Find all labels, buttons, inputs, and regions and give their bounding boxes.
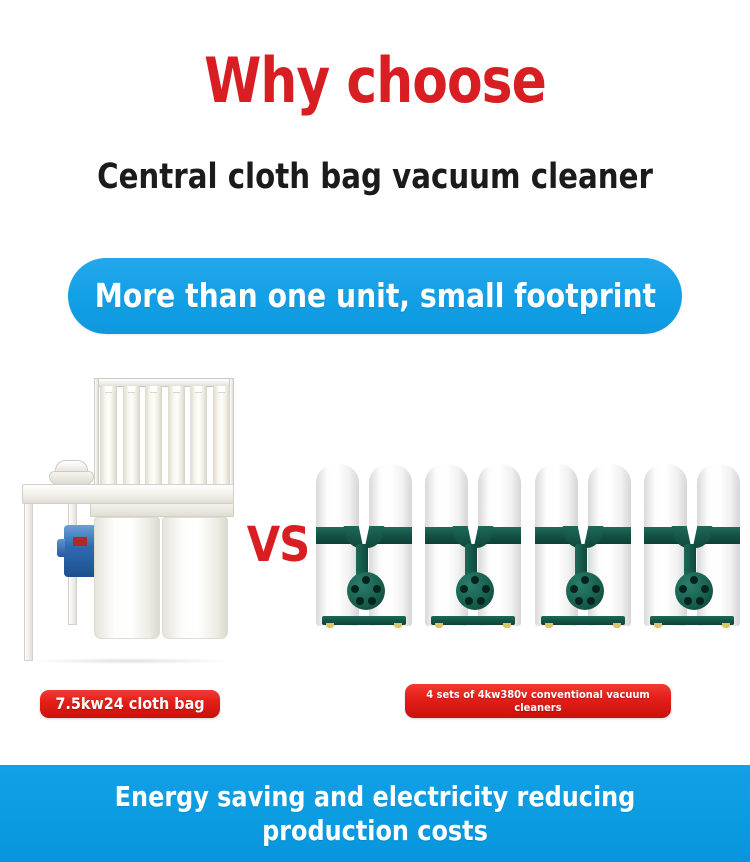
conventional-vacuum-unit xyxy=(425,464,521,664)
cloth-bag xyxy=(190,386,207,490)
platform-apron xyxy=(90,503,234,517)
floor-shadow xyxy=(28,658,232,664)
unit-foot xyxy=(545,623,553,628)
cloth-bag xyxy=(213,386,230,490)
unit-foot xyxy=(722,623,730,628)
highlight-banner-label: More than one unit, small footprint xyxy=(94,277,655,315)
frame-leg-left xyxy=(24,503,33,661)
left-product-caption-label: 7.5kw24 cloth bag xyxy=(55,695,204,713)
cloth-bag xyxy=(168,386,185,490)
unit-foot xyxy=(613,623,621,628)
inlet-hopper xyxy=(49,460,94,486)
page-title: Why choose xyxy=(26,46,724,116)
unit-foot xyxy=(394,623,402,628)
conventional-vacuum-unit xyxy=(535,464,631,664)
versus-label: VS xyxy=(243,520,313,570)
footer-banner-label: Energy saving and electricity reducing p… xyxy=(62,780,689,848)
fan-housing-icon xyxy=(675,572,713,610)
cloth-bag xyxy=(123,386,140,490)
conventional-vacuum-group xyxy=(316,464,740,664)
unit-foot xyxy=(435,623,443,628)
cloth-bag-group xyxy=(100,386,230,490)
central-cloth-bag-vacuum-illustration xyxy=(22,372,234,668)
frame-post-left xyxy=(94,378,99,490)
hopper-bowl xyxy=(49,471,94,485)
left-product-caption-badge: 7.5kw24 cloth bag xyxy=(40,690,220,718)
cloth-bag xyxy=(100,386,117,490)
right-product-caption-label: 4 sets of 4kw380v conventional vacuum cl… xyxy=(413,688,663,714)
page-subtitle: Central cloth bag vacuum cleaner xyxy=(26,155,724,199)
conventional-vacuum-unit xyxy=(644,464,740,664)
fan-housing-icon xyxy=(347,572,385,610)
collection-drum xyxy=(162,517,228,639)
conventional-vacuum-unit xyxy=(316,464,412,664)
motor-end-cap xyxy=(57,539,65,557)
cloth-bag xyxy=(145,386,162,490)
unit-foot xyxy=(654,623,662,628)
comparison-stage: VS xyxy=(0,368,750,686)
unit-foot xyxy=(326,623,334,628)
highlight-banner: More than one unit, small footprint xyxy=(68,258,682,334)
motor-label xyxy=(73,537,87,546)
unit-foot xyxy=(503,623,511,628)
machine-platform xyxy=(22,484,234,504)
fan-housing-icon xyxy=(566,572,604,610)
right-product-caption-badge: 4 sets of 4kw380v conventional vacuum cl… xyxy=(405,684,671,718)
footer-banner: Energy saving and electricity reducing p… xyxy=(0,765,750,862)
collection-drum xyxy=(94,517,160,639)
